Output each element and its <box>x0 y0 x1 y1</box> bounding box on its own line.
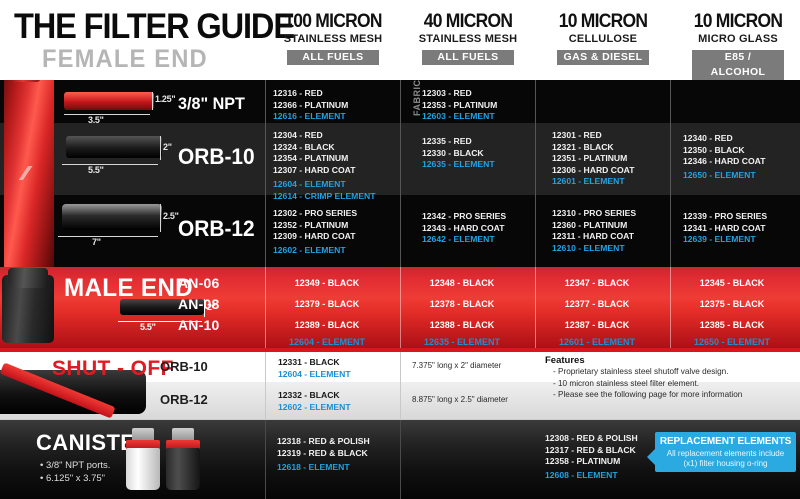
part-number-element: 12639 - ELEMENT <box>683 234 800 246</box>
part-number: 12351 - PLATINUM <box>552 153 676 165</box>
part-number: 12350 - BLACK <box>683 145 800 157</box>
column-media-label: STAINLESS MESH <box>402 33 534 46</box>
part-number: 12311 - HARD COAT <box>552 231 676 243</box>
column-divider <box>265 348 266 420</box>
part-number: 12353 - PLATINUM <box>422 100 546 112</box>
part-number: 12301 - RED <box>552 130 676 142</box>
row-label-an08: AN-08 <box>178 296 219 312</box>
part-number-element: 12610 - ELEMENT <box>552 243 676 255</box>
part-number: 12321 - BLACK <box>552 142 676 154</box>
column-micron-label: 10 MICRON <box>677 12 798 32</box>
dimension-length: 5.5" <box>140 322 156 332</box>
feature-item: - Proprietary stainless steel shutoff va… <box>545 366 742 378</box>
part-number-element: 12642 - ELEMENT <box>422 234 546 246</box>
row-type-label: 3/8" NPT <box>178 94 245 114</box>
table-cell: 12385 - BLACK <box>670 320 794 330</box>
table-cell: 12304 - RED 12324 - BLACK 12354 - PLATIN… <box>273 130 397 203</box>
table-cell: 12342 - PRO SERIES 12343 - HARD COAT 126… <box>422 211 546 246</box>
part-number: 12366 - PLATINUM <box>273 100 397 112</box>
part-number-element: 12635 - ELEMENT <box>422 159 546 171</box>
table-cell: 12379 - BLACK <box>265 299 389 309</box>
column-media-label: CELLULOSE <box>537 33 669 46</box>
table-cell: 12318 - RED & POLISH 12319 - RED & BLACK… <box>277 436 370 474</box>
row-label-orb10: ORB-10 <box>160 359 208 374</box>
filter-guide-sheet: THE FILTER GUIDE FEMALE END 100 MICRON S… <box>0 0 800 499</box>
part-number: 12324 - BLACK <box>273 142 397 154</box>
row-label-orb12: ORB-12 <box>160 392 208 407</box>
part-number-element: 12603 - ELEMENT <box>422 111 546 123</box>
part-number: 12352 - PLATINUM <box>273 220 397 232</box>
part-number: 12360 - PLATINUM <box>552 220 676 232</box>
section-subtitle-female-end: FEMALE END <box>42 47 208 72</box>
part-number: 12309 - HARD COAT <box>273 231 397 243</box>
features-panel: Features - Proprietary stainless steel s… <box>545 355 742 401</box>
part-number: 12339 - PRO SERIES <box>683 211 800 223</box>
female-end-section: 3.5" 1.25" 3/8" NPT 12316 - RED 12366 - … <box>0 80 800 267</box>
canister-body-black <box>166 448 200 490</box>
part-number: 12306 - HARD COAT <box>552 165 676 177</box>
table-cell: 12388 - BLACK <box>400 320 524 330</box>
table-cell: 12335 - RED 12330 - BLACK 12635 - ELEMEN… <box>422 136 546 171</box>
part-number: 12331 - BLACK <box>278 357 351 369</box>
dimension-diameter: 2.5" <box>163 211 179 221</box>
column-divider <box>670 80 671 267</box>
column-fuel-badge: E85 / ALCOHOL <box>692 50 784 80</box>
canister-bullet: • 6.125" x 3.75" <box>40 473 105 484</box>
table-cell: 12303 - RED 12353 - PLATINUM 12603 - ELE… <box>422 88 546 123</box>
table-cell: 12331 - BLACK 12604 - ELEMENT <box>278 357 351 380</box>
part-number: 12335 - RED <box>422 136 546 148</box>
part-number-element: 12608 - ELEMENT <box>545 470 638 482</box>
column-divider <box>265 420 266 499</box>
table-cell: 12310 - PRO SERIES 12360 - PLATINUM 1231… <box>552 208 676 254</box>
table-cell: 12339 - PRO SERIES 12341 - HARD COAT 126… <box>683 211 800 246</box>
part-number: 12340 - RED <box>683 133 800 145</box>
column-media-label: MICRO GLASS <box>672 33 800 46</box>
feature-item: - 10 micron stainless steel filter eleme… <box>545 378 742 390</box>
column-header-10-micron-micro-glass: 10 MICRON MICRO GLASS E85 / ALCOHOL <box>672 12 800 80</box>
part-number: 12346 - HARD COAT <box>683 156 800 168</box>
part-number-element: 12604 - ELEMENT <box>273 179 397 191</box>
row-type-label: ORB-10 <box>178 144 255 170</box>
dimension-diameter: 2" <box>163 142 172 152</box>
column-divider <box>535 80 536 267</box>
dimension-length: 5.5" <box>88 165 104 175</box>
table-cell: 12349 - BLACK <box>265 278 389 288</box>
column-divider <box>400 267 401 348</box>
column-micron-label: 10 MICRON <box>542 12 663 32</box>
page-title: THE FILTER GUIDE <box>14 9 294 44</box>
part-number-element: 12602 - ELEMENT <box>273 245 397 257</box>
canister-photo <box>118 424 208 496</box>
table-cell: 12347 - BLACK <box>535 278 659 288</box>
replacement-elements-callout: REPLACEMENT ELEMENTS All replacement ele… <box>655 432 796 472</box>
feature-item: - Please see the following page for more… <box>545 389 742 401</box>
table-cell-element: 12635 - ELEMENT <box>400 337 524 347</box>
part-number: 12343 - HARD COAT <box>422 223 546 235</box>
shut-off-title: SHUT - OFF <box>52 358 174 379</box>
table-cell: 12302 - PRO SERIES 12352 - PLATINUM 1230… <box>273 208 397 256</box>
column-divider <box>265 267 266 348</box>
part-number: 12330 - BLACK <box>422 148 546 160</box>
part-number-element: 12614 - CRIMP ELEMENT <box>273 191 397 203</box>
dimension-length: 3.5" <box>88 115 104 125</box>
part-photo-npt <box>64 92 154 110</box>
table-cell: 12348 - BLACK <box>400 278 524 288</box>
part-number: 12342 - PRO SERIES <box>422 211 546 223</box>
canister-bullet: • 3/8" NPT ports. <box>40 460 110 471</box>
column-fuel-badge: ALL FUELS <box>422 50 514 65</box>
part-number: 12317 - RED & BLACK <box>545 445 638 457</box>
column-divider <box>670 267 671 348</box>
table-cell: 12340 - RED 12350 - BLACK 12346 - HARD C… <box>683 133 800 181</box>
shut-off-section: SHUT - OFF ORB-10 ORB-12 12331 - BLACK 1… <box>0 348 800 420</box>
table-cell: 12316 - RED 12366 - PLATINUM 12616 - ELE… <box>273 88 397 123</box>
part-number: 12332 - BLACK <box>278 390 351 402</box>
dimension-text: 7.375" long x 2" diameter <box>412 361 501 370</box>
an-fitting-photo <box>2 275 54 343</box>
part-number: 12303 - RED <box>422 88 546 100</box>
dimension-diameter: 1.25" <box>155 94 175 104</box>
column-media-label: STAINLESS MESH <box>267 33 399 46</box>
part-number-element: 12618 - ELEMENT <box>277 462 370 474</box>
column-divider <box>535 267 536 348</box>
part-number-element: 12601 - ELEMENT <box>552 176 676 188</box>
column-header-100-micron: 100 MICRON STAINLESS MESH ALL FUELS <box>267 12 399 65</box>
dimension-text: 8.875" long x 2.5" diameter <box>412 395 508 404</box>
part-number: 12319 - RED & BLACK <box>277 448 370 460</box>
part-number: 12310 - PRO SERIES <box>552 208 676 220</box>
part-number: 12316 - RED <box>273 88 397 100</box>
row-label-an06: AN-06 <box>178 275 219 291</box>
column-divider <box>400 80 401 267</box>
dimension-length: 7" <box>92 237 101 247</box>
table-cell: 12332 - BLACK 12602 - ELEMENT <box>278 390 351 413</box>
row-type-label: ORB-12 <box>178 216 255 242</box>
part-number: 12308 - RED & POLISH <box>545 433 638 445</box>
table-cell: 12387 - BLACK <box>535 320 659 330</box>
male-end-section: 5.5" 2" MALE END AN-06 AN-08 AN-10 12349… <box>0 267 800 348</box>
table-cell-element: 12650 - ELEMENT <box>670 337 794 347</box>
filter-body-photo <box>0 80 60 267</box>
part-number: 12354 - PLATINUM <box>273 153 397 165</box>
fabric-side-label: FABRIC <box>412 80 422 116</box>
table-cell: 12389 - BLACK <box>265 320 389 330</box>
red-filter-illustration <box>4 80 54 267</box>
column-micron-label: 40 MICRON <box>407 12 528 32</box>
column-header-40-micron: 40 MICRON STAINLESS MESH ALL FUELS <box>402 12 534 65</box>
table-cell: 12377 - BLACK <box>535 299 659 309</box>
male-end-title: MALE END <box>64 276 193 301</box>
column-micron-label: 100 MICRON <box>272 12 393 32</box>
part-number-element: 12604 - ELEMENT <box>278 369 351 381</box>
canister-body-polish <box>126 448 160 490</box>
column-divider <box>265 80 266 267</box>
part-number: 12358 - PLATINUM <box>545 456 638 468</box>
divider-red-bar <box>0 348 800 352</box>
page-header: THE FILTER GUIDE FEMALE END 100 MICRON S… <box>0 0 800 80</box>
part-number: 12302 - PRO SERIES <box>273 208 397 220</box>
row-label-an10: AN-10 <box>178 317 219 333</box>
table-cell: 12308 - RED & POLISH 12317 - RED & BLACK… <box>545 433 638 481</box>
part-number-element: 12602 - ELEMENT <box>278 402 351 414</box>
table-cell: 12375 - BLACK <box>670 299 794 309</box>
table-cell-element: 12601 - ELEMENT <box>535 337 659 347</box>
part-number: 12341 - HARD COAT <box>683 223 800 235</box>
table-cell-element: 12604 - ELEMENT <box>265 337 389 347</box>
table-cell: 12345 - BLACK <box>670 278 794 288</box>
column-header-10-micron-cellulose: 10 MICRON CELLULOSE GAS & DIESEL <box>537 12 669 65</box>
part-number: 12318 - RED & POLISH <box>277 436 370 448</box>
part-number: 12307 - HARD COAT <box>273 165 397 177</box>
column-fuel-badge: GAS & DIESEL <box>557 50 649 65</box>
column-divider <box>400 420 401 499</box>
features-heading: Features <box>545 355 742 366</box>
part-photo-orb10 <box>66 136 162 158</box>
callout-text: All replacement elements include (x1) fi… <box>655 447 796 469</box>
part-photo-orb12 <box>62 204 162 230</box>
part-number-element: 12616 - ELEMENT <box>273 111 397 123</box>
callout-heading: REPLACEMENT ELEMENTS <box>655 432 796 447</box>
part-number-element: 12650 - ELEMENT <box>683 170 800 182</box>
table-cell: 12378 - BLACK <box>400 299 524 309</box>
part-number: 12304 - RED <box>273 130 397 142</box>
column-fuel-badge: ALL FUELS <box>287 50 379 65</box>
table-cell: 12301 - RED 12321 - BLACK 12351 - PLATIN… <box>552 130 676 188</box>
column-divider <box>400 348 401 420</box>
